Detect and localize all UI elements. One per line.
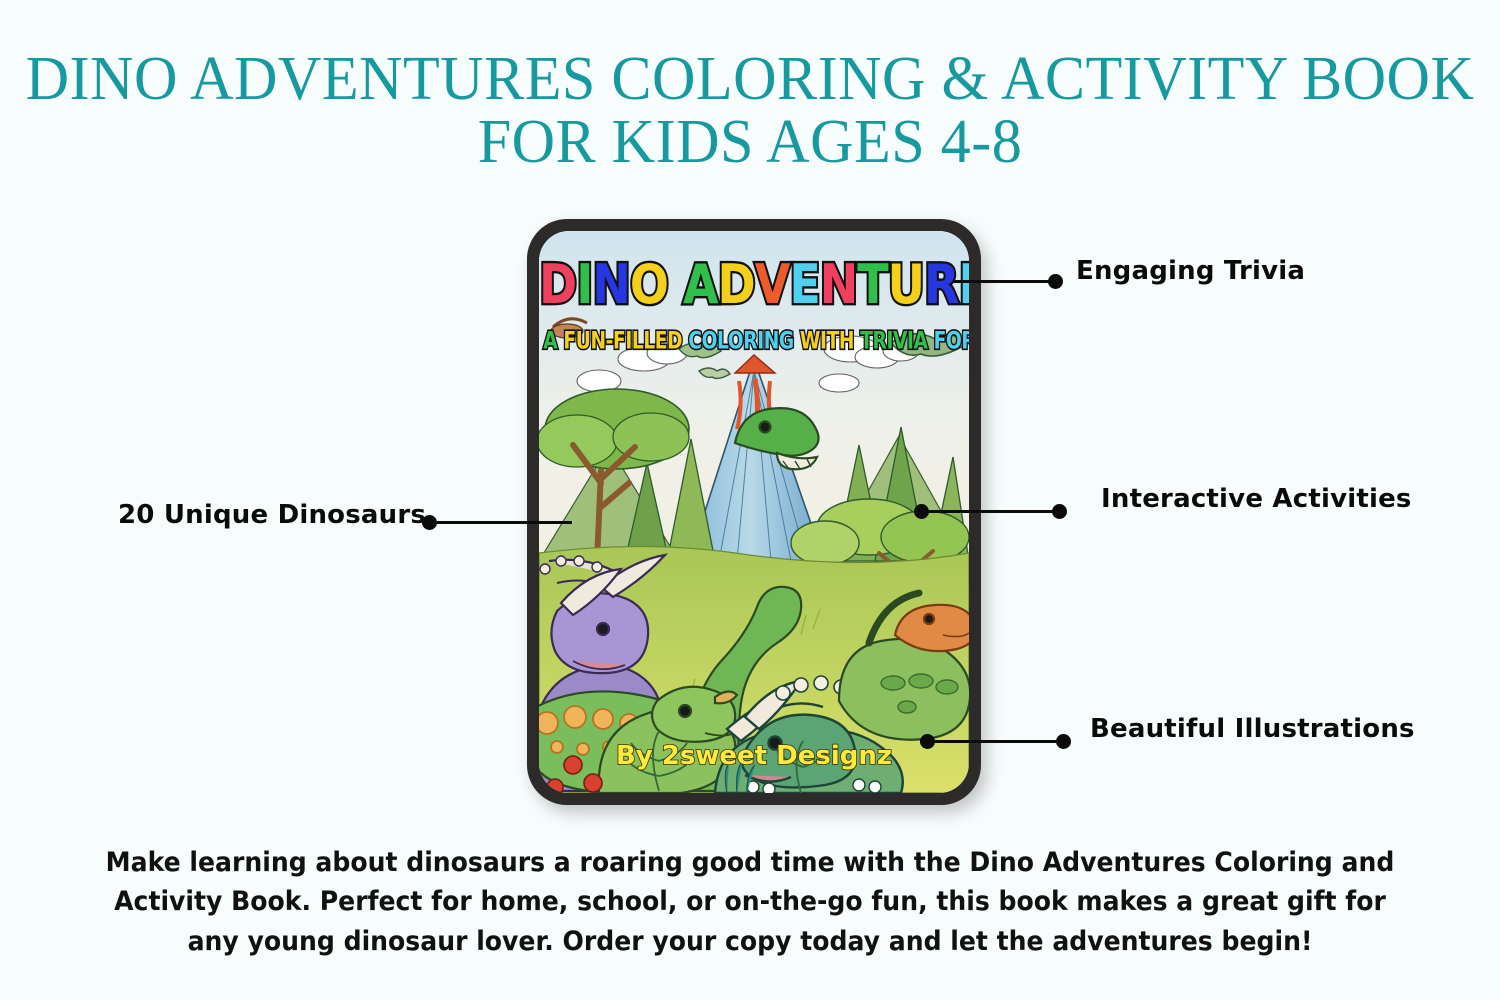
cover-title-letter xyxy=(668,252,683,316)
leader-dot-inner xyxy=(914,504,929,519)
cover-title-letter: T xyxy=(857,252,887,316)
cover-title-letter: E xyxy=(789,252,819,316)
tablet-device-mockup: DINO ADVENTURES A FUN-FILLED COLORING WI… xyxy=(527,219,981,805)
cover-subtitle-words: A FUN-FILLED COLORING WITH TRIVIA FOR KI… xyxy=(543,327,969,355)
leader-dot-inner xyxy=(920,734,935,749)
cover-author-credit: By 2sweet Designz xyxy=(539,741,969,771)
poster-canvas: DINO ADVENTURES COLORING & ACTIVITY BOOK… xyxy=(0,0,1500,1000)
cover-subtitle: A FUN-FILLED COLORING WITH TRIVIA FOR KI… xyxy=(543,327,964,355)
cover-title: DINO ADVENTURES xyxy=(539,257,969,311)
cover-title-letter: E xyxy=(958,252,969,316)
cover-title-letter: R xyxy=(924,252,958,316)
marketing-blurb: Make learning about dinosaurs a roaring … xyxy=(99,843,1401,961)
book-cover-screen: DINO ADVENTURES A FUN-FILLED COLORING WI… xyxy=(539,231,969,793)
page-title-line-2: FOR KIDS AGES 4-8 xyxy=(23,111,1478,174)
cover-subtitle-word: A xyxy=(543,327,557,355)
leader-bar xyxy=(920,740,1064,743)
leader-dot-outer xyxy=(1056,734,1071,749)
cover-title-letter: D xyxy=(718,252,755,316)
cover-title-letter: A xyxy=(683,252,718,316)
cover-subtitle-word: COLORING xyxy=(682,327,794,355)
cover-title-letter: U xyxy=(888,252,924,316)
callout-unique-dinosaurs: 20 Unique Dinosaurs xyxy=(118,500,426,530)
cover-subtitle-word: FUN-FILLED xyxy=(557,327,682,355)
callout-interactive-activities: Interactive Activities xyxy=(1101,484,1412,514)
page-title-line-1: DINO ADVENTURES COLORING & ACTIVITY BOOK xyxy=(23,48,1478,111)
page-title: DINO ADVENTURES COLORING & ACTIVITY BOOK… xyxy=(23,48,1478,174)
callout-engaging-trivia: Engaging Trivia xyxy=(1076,256,1305,286)
cover-subtitle-word: WITH xyxy=(794,327,854,355)
cover-title-letter: I xyxy=(576,252,592,316)
leader-dot-outer xyxy=(1052,504,1067,519)
leader-bar xyxy=(914,510,1060,513)
cover-title-letter: N xyxy=(592,252,630,316)
cover-subtitle-word: TRIVIA xyxy=(854,327,927,355)
cover-title-letter: V xyxy=(755,252,790,316)
leader-bar xyxy=(953,280,1058,283)
cover-title-letters: DINO ADVENTURES xyxy=(539,252,969,316)
cover-title-letter: D xyxy=(539,252,576,316)
cover-title-letter: N xyxy=(820,252,858,316)
callout-beautiful-illustrations: Beautiful Illustrations xyxy=(1090,714,1415,744)
cover-subtitle-word: FOR xyxy=(928,327,969,355)
leader-dot xyxy=(1048,274,1063,289)
cover-title-letter: O xyxy=(630,252,668,316)
leader-bar xyxy=(428,521,572,524)
